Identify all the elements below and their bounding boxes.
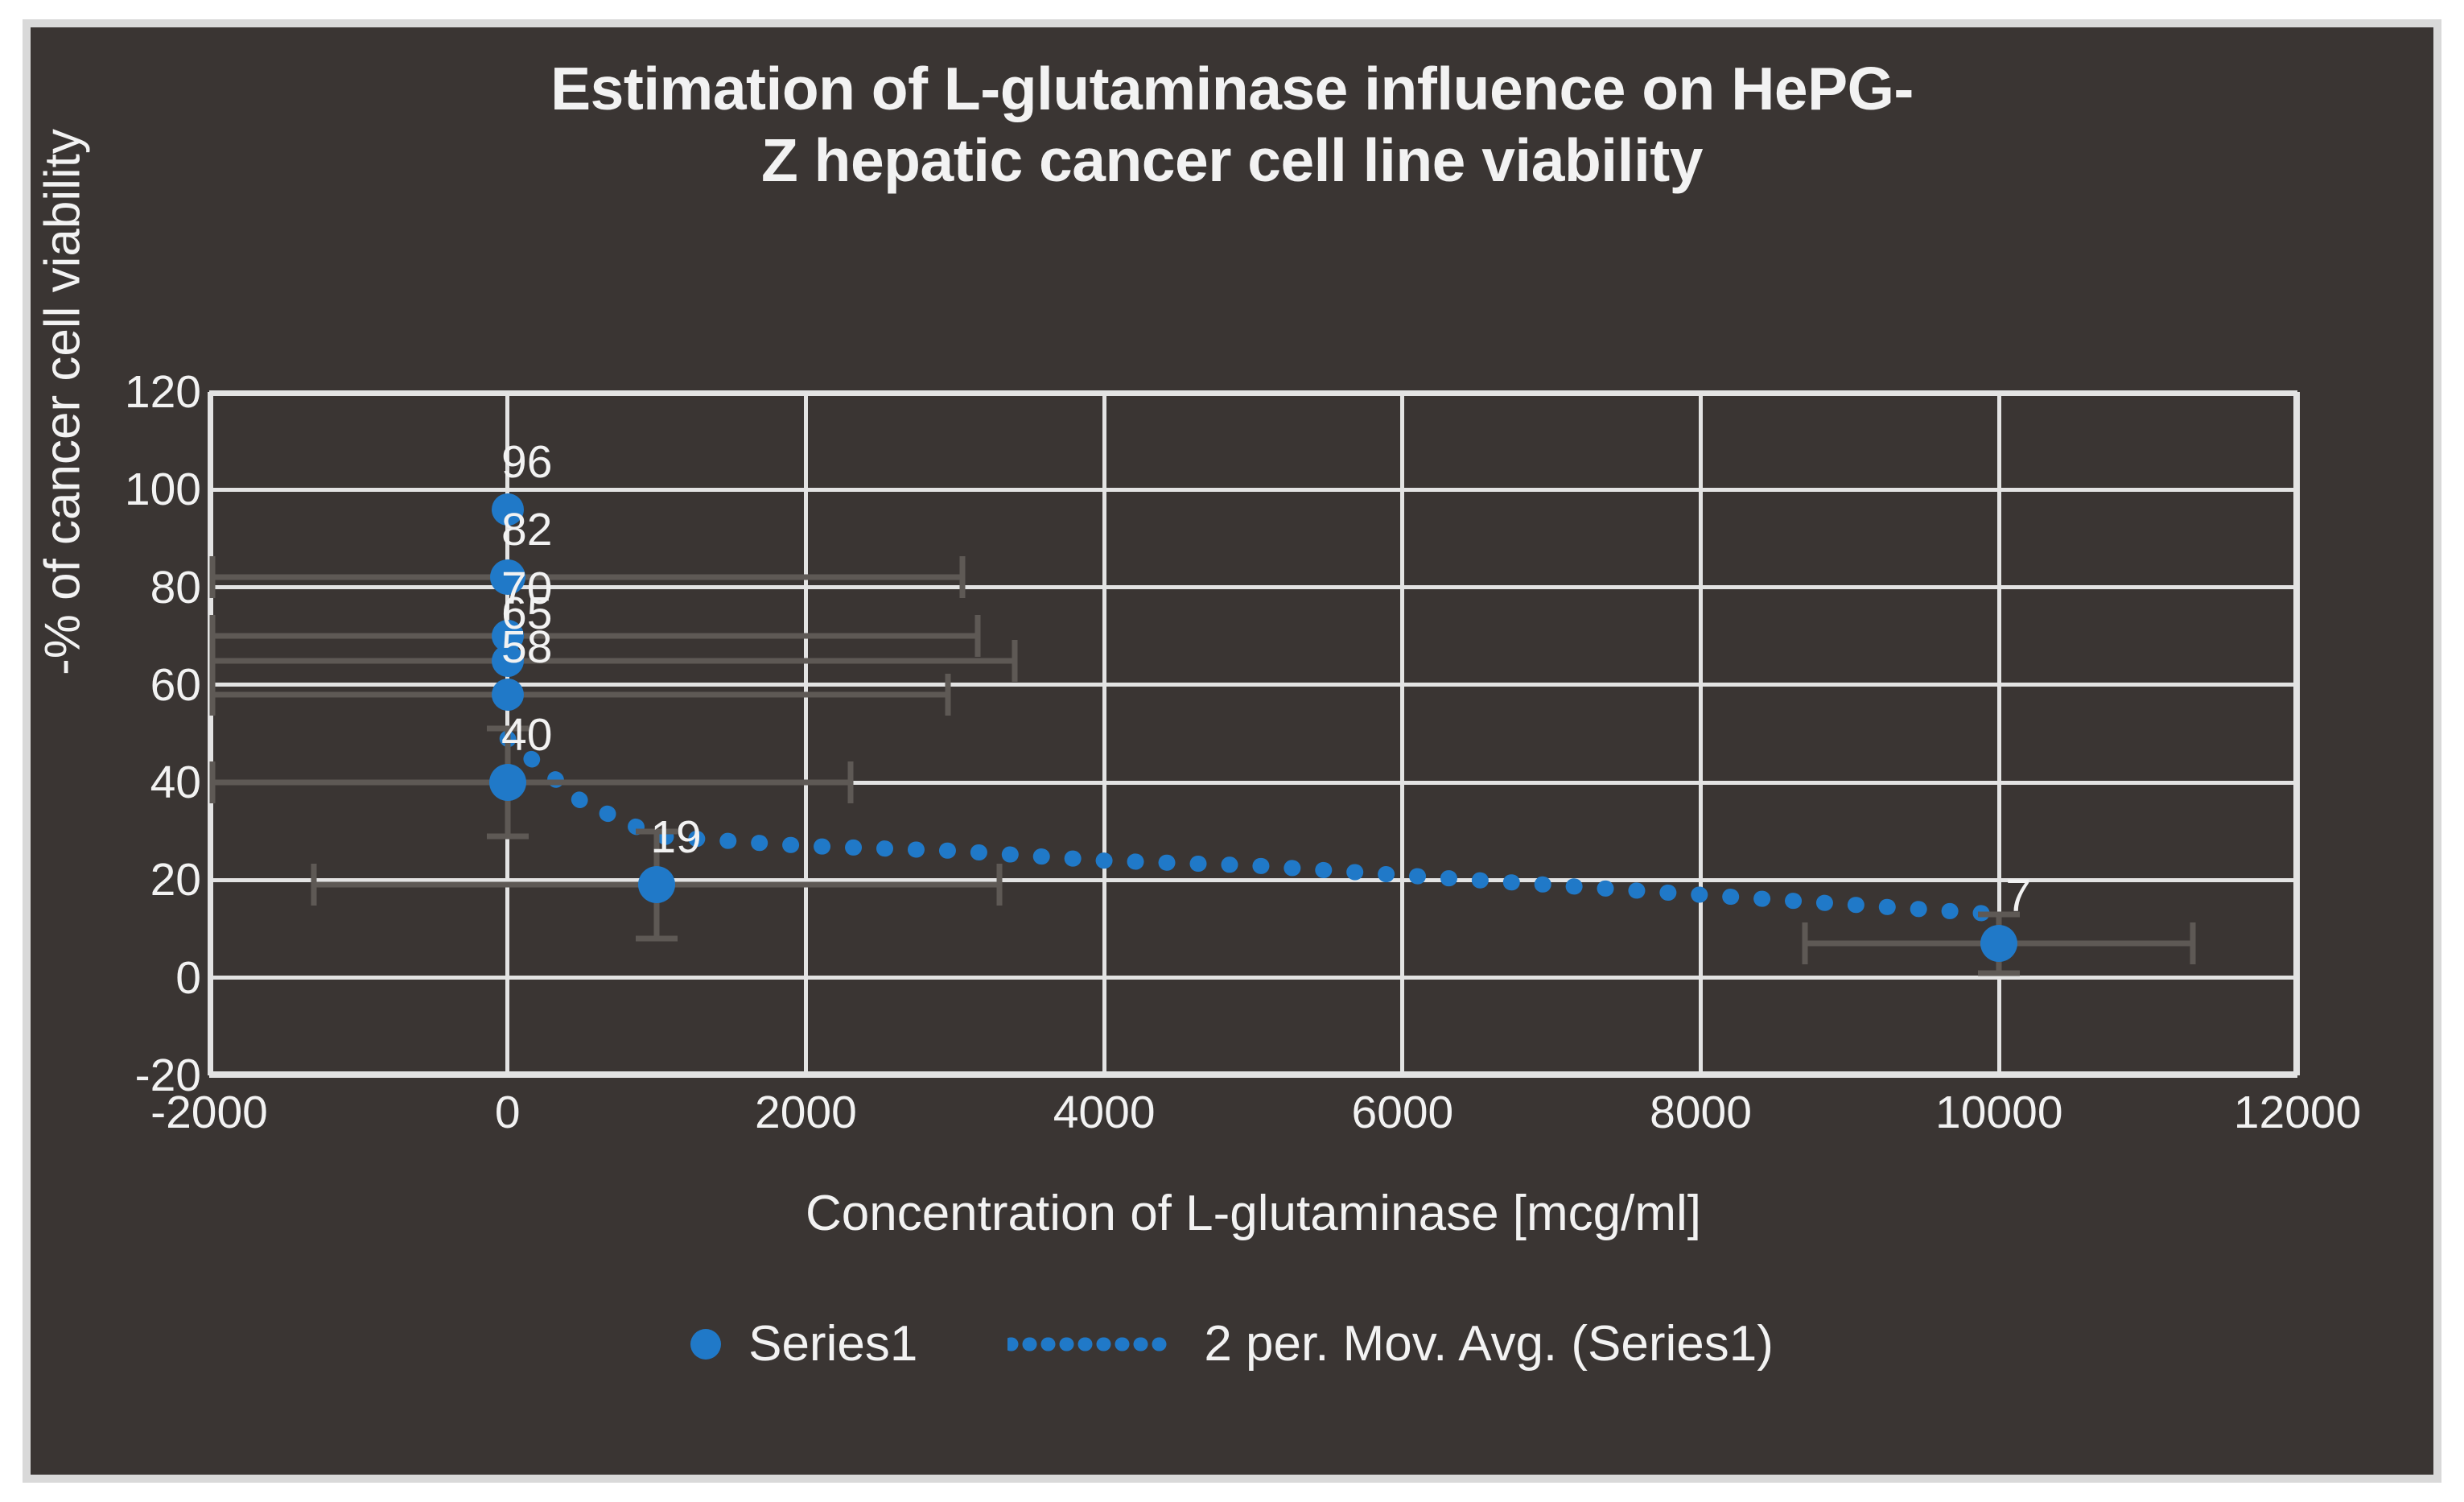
y-tick-label: 80 bbox=[150, 561, 201, 614]
x-axis-title: Concentration of L-glutaminase [mcg/ml] bbox=[209, 1185, 2297, 1242]
x-tick-label: -2000 bbox=[150, 1086, 268, 1139]
plot-area: 968270655840197 120100806040200-20 -2000… bbox=[209, 392, 2297, 1075]
x-axis-labels: -2000020004000600080001000012000 bbox=[209, 1086, 2297, 1150]
y-tick-label: 120 bbox=[125, 365, 201, 419]
x-tick-label: 6000 bbox=[1351, 1086, 1453, 1139]
plot-border bbox=[209, 392, 2297, 1075]
y-tick-label: 40 bbox=[150, 756, 201, 809]
chart-title-line-2: Z hepatic cancer cell line viability bbox=[31, 125, 2433, 196]
chart-legend: Series12 per. Mov. Avg. (Series1) bbox=[31, 1315, 2433, 1372]
y-tick-label: 20 bbox=[150, 853, 201, 906]
y-tick-label: 100 bbox=[125, 463, 201, 516]
legend-label: 2 per. Mov. Avg. (Series1) bbox=[1204, 1315, 1774, 1372]
y-axis-labels: 120100806040200-20 bbox=[31, 392, 201, 1075]
chart-title-line-1: Estimation of L-glutaminase influence on… bbox=[31, 53, 2433, 125]
x-tick-label: 8000 bbox=[1650, 1086, 1752, 1139]
legend-marker-dotted-line-icon bbox=[1007, 1337, 1176, 1351]
legend-item[interactable]: Series1 bbox=[690, 1315, 917, 1372]
chart-frame: Estimation of L-glutaminase influence on… bbox=[23, 19, 2441, 1483]
x-tick-label: 12000 bbox=[2234, 1086, 2362, 1139]
x-tick-label: 0 bbox=[495, 1086, 521, 1139]
x-tick-label: 10000 bbox=[1935, 1086, 2063, 1139]
y-tick-label: 0 bbox=[175, 951, 201, 1005]
legend-label: Series1 bbox=[748, 1315, 917, 1372]
x-tick-label: 4000 bbox=[1053, 1086, 1156, 1139]
legend-marker-circle-icon bbox=[690, 1329, 721, 1360]
legend-item[interactable]: 2 per. Mov. Avg. (Series1) bbox=[1007, 1315, 1774, 1372]
y-tick-label: 60 bbox=[150, 658, 201, 712]
chart-title: Estimation of L-glutaminase influence on… bbox=[31, 53, 2433, 196]
x-tick-label: 2000 bbox=[755, 1086, 857, 1139]
chart-canvas: Estimation of L-glutaminase influence on… bbox=[31, 27, 2433, 1475]
